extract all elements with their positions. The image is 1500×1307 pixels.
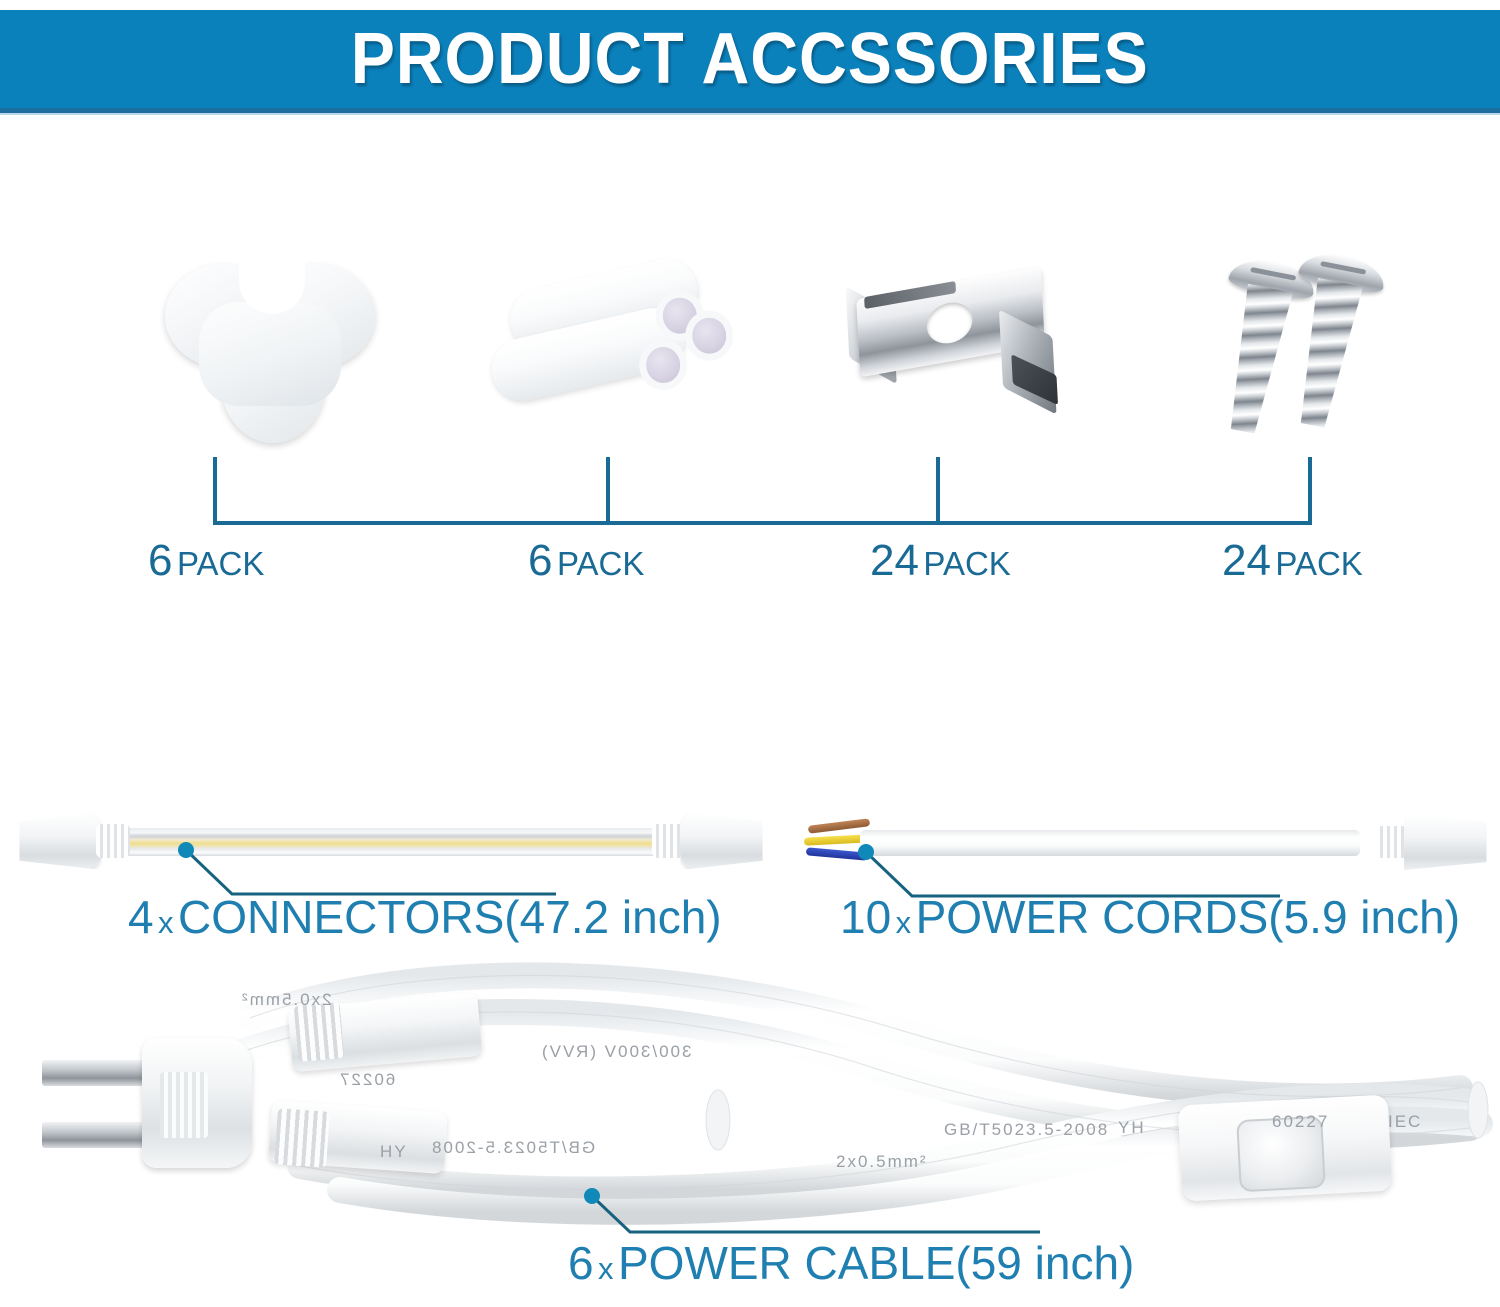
cable-print-gauge-2: 2x0.5mm²	[836, 1152, 928, 1172]
pack-unit: PACK	[1275, 545, 1362, 582]
plug-prong	[42, 1060, 146, 1086]
power-cord-text: POWER CORDS(5.9 inch)	[916, 891, 1460, 943]
us-two-prong-plug-icon	[42, 1038, 252, 1168]
multiplier: x	[896, 905, 912, 940]
power-cord-leader-dot	[858, 844, 874, 860]
cable-print-yh: YH	[378, 1142, 406, 1162]
part-item-trilobe-clip	[80, 230, 460, 470]
part-item-tube-connector	[440, 230, 770, 470]
pack-count: 6	[148, 536, 172, 585]
part-item-screws	[1150, 230, 1480, 470]
cable-print-60227-2: 60227	[1272, 1112, 1329, 1132]
connector-cable-label: 4 x CONNECTORS(47.2 inch)	[128, 890, 722, 944]
socket-strain-relief-upper	[294, 1002, 345, 1062]
parts-row	[0, 230, 1500, 470]
pack-count: 6	[528, 536, 552, 585]
pack-label-metal-clip: 24 PACK	[870, 536, 1011, 586]
pack-count: 24	[870, 536, 919, 585]
tube-connector-icon	[485, 262, 726, 438]
cable-print-standard: GB/T5023.5-2008	[430, 1138, 595, 1158]
page-title: PRODUCT ACCSSORIES	[351, 18, 1149, 100]
pack-unit: PACK	[923, 545, 1010, 582]
cable-print-60227: 60227	[338, 1070, 395, 1090]
power-cord-label: 10 x POWER CORDS(5.9 inch)	[840, 890, 1460, 944]
screw-icon	[1208, 255, 1423, 445]
cable-print-standard-2: GB/T5023.5-2008	[944, 1120, 1109, 1140]
multiplier: x	[158, 905, 174, 940]
power-cable-count: 6	[568, 1237, 594, 1289]
power-cable-label: 6 x POWER CABLE(59 inch)	[568, 1236, 1134, 1290]
cable-print-iec: IEC	[1388, 1112, 1422, 1132]
power-cable-leader-dot	[584, 1188, 600, 1204]
cable-print-gauge: 2x0.5mm²	[240, 990, 332, 1010]
connector-leader-dot	[178, 842, 194, 858]
banner-underline-light	[0, 113, 1500, 115]
pack-count: 24	[1222, 536, 1271, 585]
cable-print-yh-2: YH	[1118, 1118, 1146, 1138]
power-cable-text: POWER CABLE(59 inch)	[618, 1237, 1134, 1289]
cable-print-voltage: 300/300V (RVV)	[540, 1042, 691, 1062]
metal-clip-icon	[838, 259, 1062, 440]
pack-unit: PACK	[177, 545, 264, 582]
plug-prong	[42, 1122, 146, 1148]
pack-label-tube-connector: 6 PACK	[528, 536, 644, 586]
pack-label-screws: 24 PACK	[1222, 536, 1363, 586]
socket-strain-relief-lower	[274, 1108, 330, 1167]
pack-unit: PACK	[557, 545, 644, 582]
part-item-metal-clip	[790, 230, 1110, 470]
multiplier: x	[598, 1251, 614, 1286]
connector-count: 4	[128, 891, 154, 943]
trilobe-clip-icon	[165, 258, 375, 443]
header-banner: PRODUCT ACCSSORIES	[0, 10, 1500, 108]
power-cord-count: 10	[840, 891, 891, 943]
connector-text: CONNECTORS(47.2 inch)	[178, 891, 722, 943]
pack-label-trilobe-clip: 6 PACK	[148, 536, 264, 586]
